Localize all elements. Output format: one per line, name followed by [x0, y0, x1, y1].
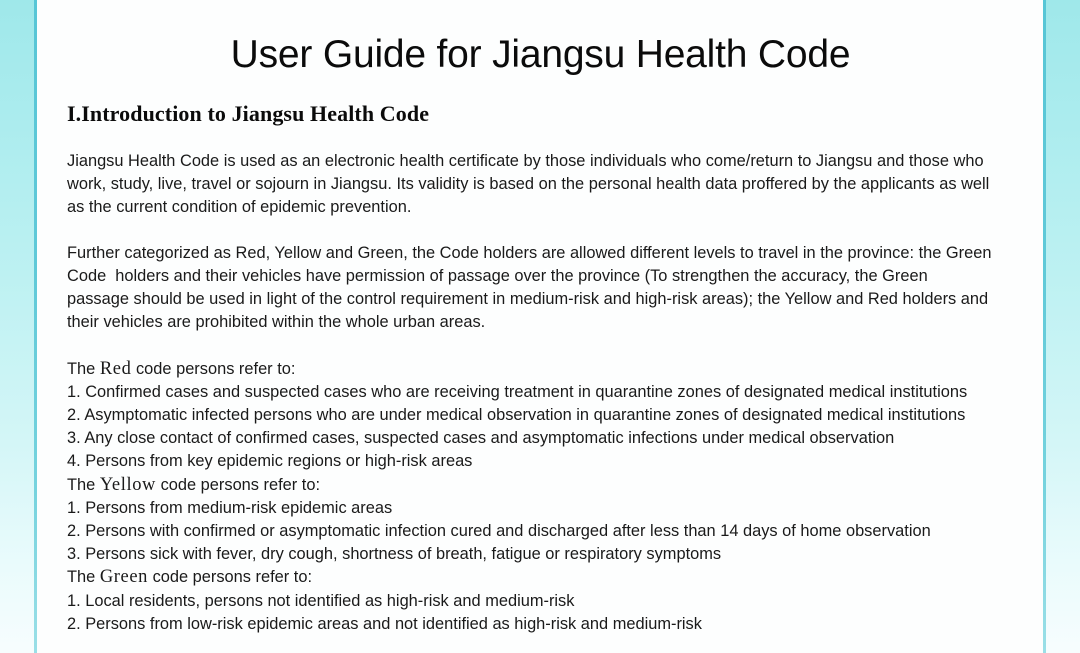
intro-paragraph-2: Further categorized as Red, Yellow and G… — [67, 218, 993, 333]
decorative-right-band — [1043, 0, 1080, 653]
yellow-item-3: 3. Persons sick with fever, dry cough, s… — [67, 543, 993, 566]
green-lead-prefix: The — [67, 568, 100, 586]
yellow-item-2: 2. Persons with confirmed or asymptomati… — [67, 520, 993, 543]
yellow-color-word: Yellow — [100, 475, 156, 495]
decorative-left-band — [0, 0, 37, 653]
red-color-word: Red — [100, 359, 132, 379]
green-color-word: Green — [100, 567, 148, 587]
green-group-lead: The Green code persons refer to: — [67, 566, 993, 589]
red-item-3: 3. Any close contact of confirmed cases,… — [67, 427, 993, 450]
intro-paragraph-1: Jiangsu Health Code is used as an electr… — [67, 128, 993, 218]
red-item-1: 1. Confirmed cases and suspected cases w… — [67, 381, 993, 404]
red-lead-suffix: code persons refer to: — [131, 360, 295, 378]
page-title: User Guide for Jiangsu Health Code — [38, 0, 1043, 80]
red-group-lead: The Red code persons refer to: — [67, 358, 993, 381]
left-band-rule — [34, 0, 37, 653]
yellow-lead-prefix: The — [67, 476, 100, 494]
page-content: User Guide for Jiangsu Health Code I.Int… — [38, 0, 1043, 653]
yellow-item-1: 1. Persons from medium-risk epidemic are… — [67, 497, 993, 520]
code-groups: The Red code persons refer to: 1. Confir… — [67, 334, 993, 636]
red-lead-prefix: The — [67, 360, 100, 378]
red-item-2: 2. Asymptomatic infected persons who are… — [67, 404, 993, 427]
green-item-2: 2. Persons from low-risk epidemic areas … — [67, 613, 993, 636]
yellow-lead-suffix: code persons refer to: — [156, 476, 320, 494]
green-item-1: 1. Local residents, persons not identifi… — [67, 590, 993, 613]
right-band-fill — [1046, 0, 1080, 653]
green-lead-suffix: code persons refer to: — [148, 568, 312, 586]
body-text-block: Jiangsu Health Code is used as an electr… — [38, 128, 993, 636]
right-band-rule — [1043, 0, 1046, 653]
section-heading: I.Introduction to Jiangsu Health Code — [38, 80, 1043, 128]
left-band-fill — [0, 0, 35, 653]
slide-page: User Guide for Jiangsu Health Code I.Int… — [0, 0, 1080, 653]
red-item-4: 4. Persons from key epidemic regions or … — [67, 450, 993, 473]
yellow-group-lead: The Yellow code persons refer to: — [67, 474, 993, 497]
